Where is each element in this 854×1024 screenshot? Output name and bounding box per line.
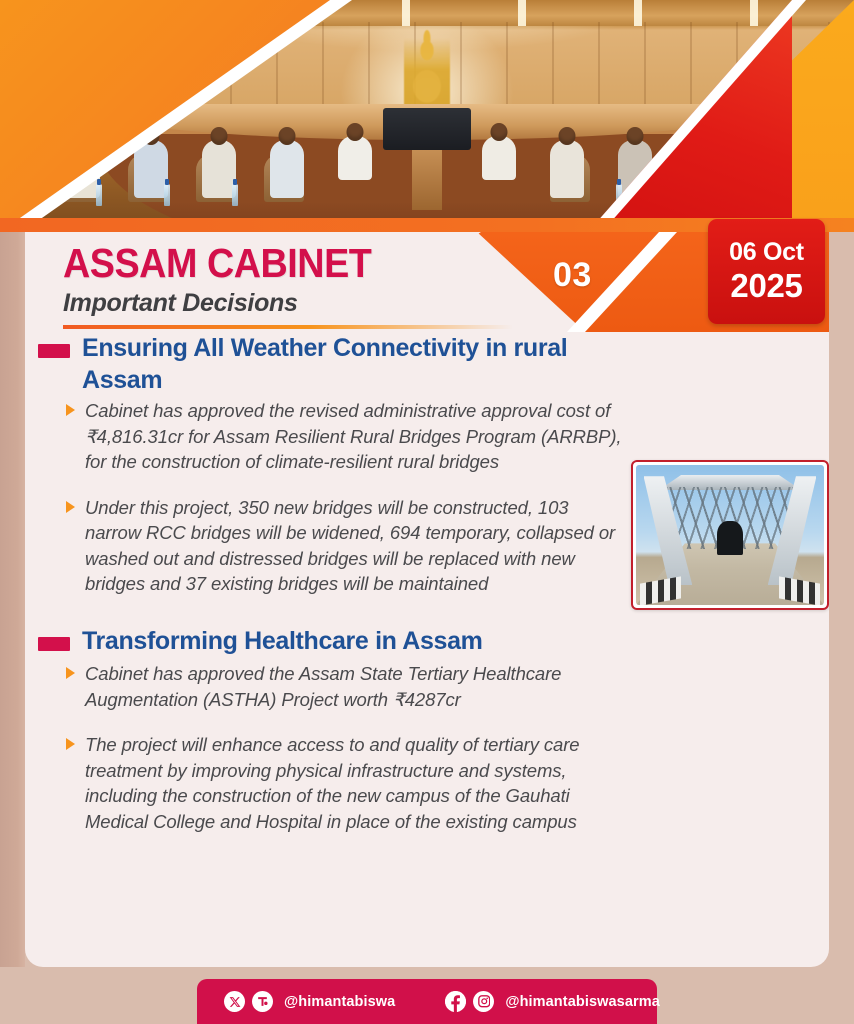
header-photo-banner	[0, 0, 854, 232]
attendee	[270, 140, 304, 198]
handle-text: @himantabiswa	[284, 994, 395, 1010]
social-group-2: @himantabiswasarma	[419, 991, 660, 1012]
page-subtitle: Important Decisions	[63, 289, 298, 318]
social-group-1: @himantabiswa	[197, 991, 395, 1012]
bullet-item: Cabinet has approved the revised adminis…	[63, 398, 623, 475]
section-bullets: Cabinet has approved the Assam State Ter…	[63, 661, 623, 854]
attendee	[338, 136, 372, 180]
attendee	[550, 140, 584, 198]
water-bottle	[232, 184, 238, 206]
attendee	[202, 140, 236, 198]
date-day: 06 Oct	[729, 238, 804, 267]
x-icon[interactable]	[224, 991, 245, 1012]
bridge-vanishing-point	[717, 521, 743, 555]
bullet-item: Under this project, 350 new bridges will…	[63, 495, 623, 597]
water-bottle	[96, 184, 102, 206]
handle-text: @himantabiswasarma	[505, 994, 660, 1010]
date-badge: 06 Oct 2025	[708, 219, 825, 324]
section-heading: Transforming Healthcare in Assam	[82, 625, 602, 657]
podium-column	[412, 148, 442, 210]
content-body: Ensuring All Weather Connectivity in rur…	[25, 332, 829, 967]
content-card: ASSAM CABINET Important Decisions 03 Ens…	[25, 232, 829, 967]
water-bottle	[164, 184, 170, 206]
social-footer-bar: @himantabiswa @himantabiswasarma	[197, 979, 657, 1024]
infographic-poster: 06 Oct 2025 ASSAM CABINET Important Deci…	[0, 0, 854, 1024]
title-underline	[63, 325, 513, 329]
bridge-photo	[631, 460, 829, 610]
page-title: ASSAM CABINET	[63, 240, 371, 287]
issue-number-badge: 03	[553, 256, 592, 295]
bullet-item: The project will enhance access to and q…	[63, 732, 623, 834]
monitor	[383, 108, 471, 150]
section-bullets: Cabinet has approved the revised adminis…	[63, 398, 623, 617]
facebook-icon[interactable]	[445, 991, 466, 1012]
threads-icon[interactable]	[252, 991, 273, 1012]
section-marker	[38, 637, 70, 651]
attendee	[482, 136, 516, 180]
section-marker	[38, 344, 70, 358]
date-year: 2025	[730, 267, 802, 305]
left-accent-strip	[0, 232, 25, 967]
instagram-icon[interactable]	[473, 991, 494, 1012]
section-heading: Ensuring All Weather Connectivity in rur…	[82, 332, 602, 396]
bullet-item: Cabinet has approved the Assam State Ter…	[63, 661, 623, 712]
